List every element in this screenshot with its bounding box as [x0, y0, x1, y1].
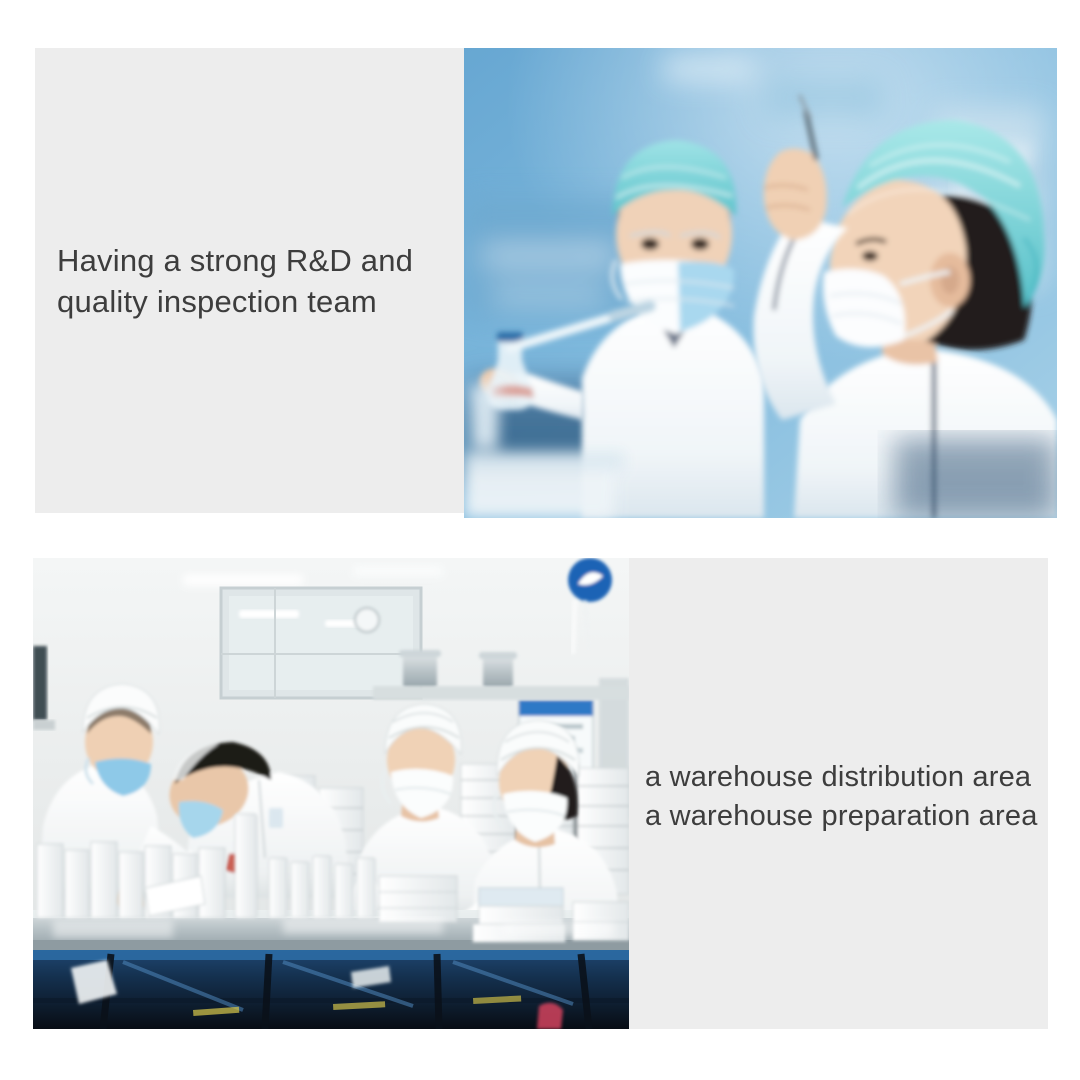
warehouse-packing-illustration [33, 558, 629, 1029]
section-warehouse: a warehouse distribution area a warehous… [0, 530, 1080, 1080]
slide-root: Having a strong R&D and quality inspecti… [0, 0, 1080, 1080]
lab-technicians-photo [464, 48, 1057, 518]
warehouse-packing-photo [33, 558, 629, 1029]
rnd-quality-caption: Having a strong R&D and quality inspecti… [57, 240, 457, 322]
lab-technicians-illustration [464, 48, 1057, 518]
section-rnd-quality: Having a strong R&D and quality inspecti… [0, 0, 1080, 530]
warehouse-caption: a warehouse distribution area a warehous… [645, 758, 1045, 836]
